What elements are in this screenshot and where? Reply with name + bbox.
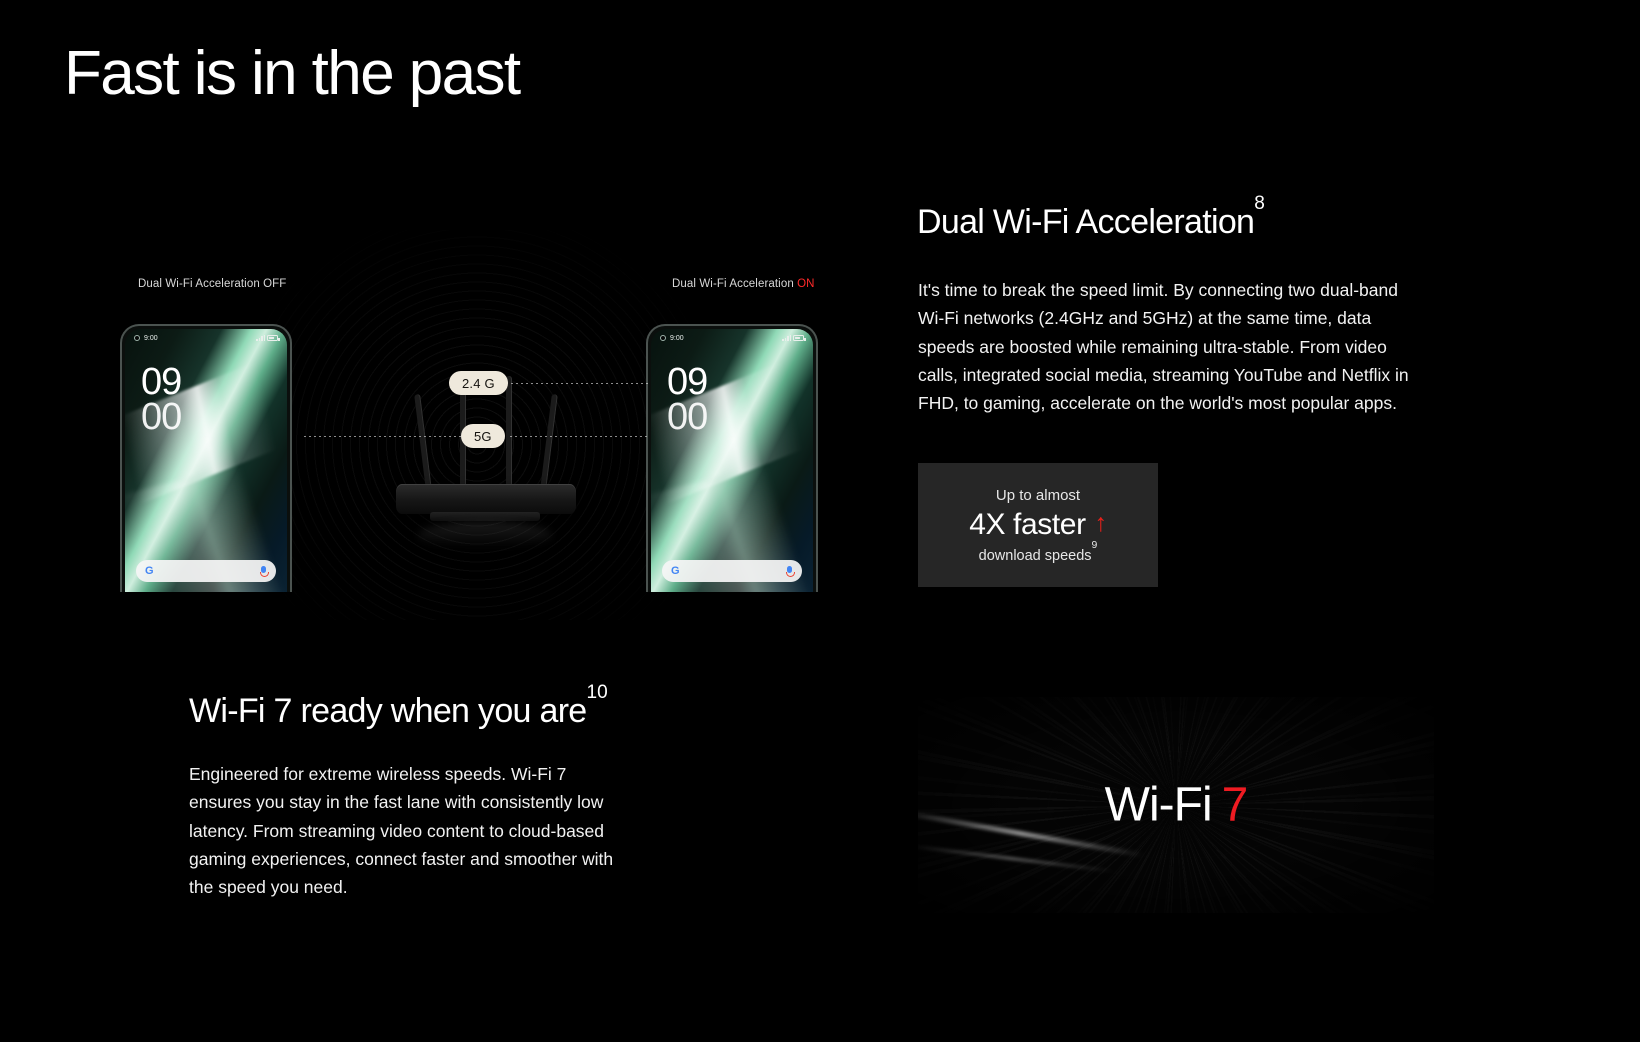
signal-bars-icon: [256, 335, 265, 341]
up-arrow-icon: ↑: [1095, 511, 1107, 536]
google-logo-icon: G: [671, 566, 680, 577]
badge-2-4g: 2.4 G: [449, 371, 508, 395]
statusbar-time: 9:00: [670, 335, 684, 342]
statusbar-left: 9:00: [660, 335, 684, 342]
connector-5g-left: [304, 436, 461, 437]
statusbar-left: 9:00: [134, 335, 158, 342]
stat-card-download-speed: Up to almost 4X faster ↑ download speeds…: [918, 463, 1158, 587]
router-antenna-1: [414, 394, 432, 490]
wifi7-banner-text: Wi-Fi: [1105, 779, 1212, 832]
front-camera-punchhole-icon: [134, 335, 140, 341]
stat-bottom-label: download speeds9: [979, 546, 1098, 564]
dual-wifi-illustration: Dual Wi-Fi Acceleration OFF Dual Wi-Fi A…: [72, 250, 872, 600]
clock-minutes: 00: [141, 400, 181, 435]
page-root: Fast is in the past Dual Wi-Fi Accelerat…: [0, 0, 1640, 1042]
label-on-state: ON: [797, 278, 814, 290]
phone-right-screen: 9:00 09 00 G: [651, 329, 813, 592]
phone-left-screen: 9:00 09 00 G: [125, 329, 287, 592]
phone-right-clock: 09 00: [667, 365, 707, 435]
statusbar-time: 9:00: [144, 335, 158, 342]
dual-wifi-body: It's time to break the speed limit. By c…: [918, 276, 1414, 418]
router-stand: [430, 512, 540, 521]
wifi7-banner-label: Wi-Fi7: [918, 778, 1434, 833]
phone-left-statusbar: 9:00: [125, 329, 287, 347]
wifi7-banner-number: 7: [1222, 779, 1248, 832]
signal-bars-icon: [782, 335, 791, 341]
phone-right: 9:00 09 00 G: [646, 324, 818, 592]
battery-icon: [793, 335, 804, 341]
stat-top-label: Up to almost: [996, 487, 1080, 504]
connector-24g-right: [506, 383, 650, 384]
label-dual-wifi-off: Dual Wi-Fi Acceleration OFF: [138, 278, 286, 290]
google-search-widget-right[interactable]: G: [662, 560, 802, 582]
page-headline: Fast is in the past: [64, 42, 520, 106]
front-camera-punchhole-icon: [660, 335, 666, 341]
label-on-prefix: Dual Wi-Fi Acceleration: [672, 278, 797, 290]
router-body: [396, 484, 576, 514]
clock-minutes: 00: [667, 400, 707, 435]
router-illustration: [390, 372, 580, 532]
google-logo-icon: G: [145, 566, 154, 577]
battery-icon: [267, 335, 278, 341]
stat-bottom-text: download speeds: [979, 547, 1092, 563]
google-search-widget-left[interactable]: G: [136, 560, 276, 582]
phone-left: 9:00 09 00 G: [120, 324, 292, 592]
wifi7-banner-image: Wi-Fi7: [918, 697, 1434, 913]
stat-main-row: 4X faster ↑: [969, 508, 1107, 541]
connector-5g-right: [510, 436, 650, 437]
wifi7-title-footnote: 10: [587, 682, 608, 703]
statusbar-right: [782, 335, 804, 341]
clock-hours: 09: [667, 365, 707, 400]
dual-wifi-title-footnote: 8: [1254, 193, 1265, 214]
dual-wifi-title-text: Dual Wi-Fi Acceleration: [917, 203, 1254, 241]
phone-left-clock: 09 00: [141, 365, 181, 435]
router-antenna-4: [540, 394, 558, 490]
microphone-icon[interactable]: [260, 566, 267, 577]
dual-wifi-title: Dual Wi-Fi Acceleration8: [917, 203, 1265, 242]
badge-5g: 5G: [461, 424, 505, 448]
statusbar-right: [256, 335, 278, 341]
wifi7-title-text: Wi-Fi 7 ready when you are: [189, 692, 587, 730]
phone-right-statusbar: 9:00: [651, 329, 813, 347]
microphone-icon[interactable]: [786, 566, 793, 577]
wifi7-title: Wi-Fi 7 ready when you are10: [189, 692, 608, 731]
clock-hours: 09: [141, 365, 181, 400]
router-reflection: [418, 522, 552, 548]
stat-bottom-footnote: 9: [1092, 540, 1098, 551]
wifi7-body: Engineered for extreme wireless speeds. …: [189, 760, 619, 902]
router-antenna-3: [506, 376, 512, 488]
label-dual-wifi-on: Dual Wi-Fi Acceleration ON: [672, 278, 815, 290]
stat-value: 4X faster: [969, 508, 1085, 541]
